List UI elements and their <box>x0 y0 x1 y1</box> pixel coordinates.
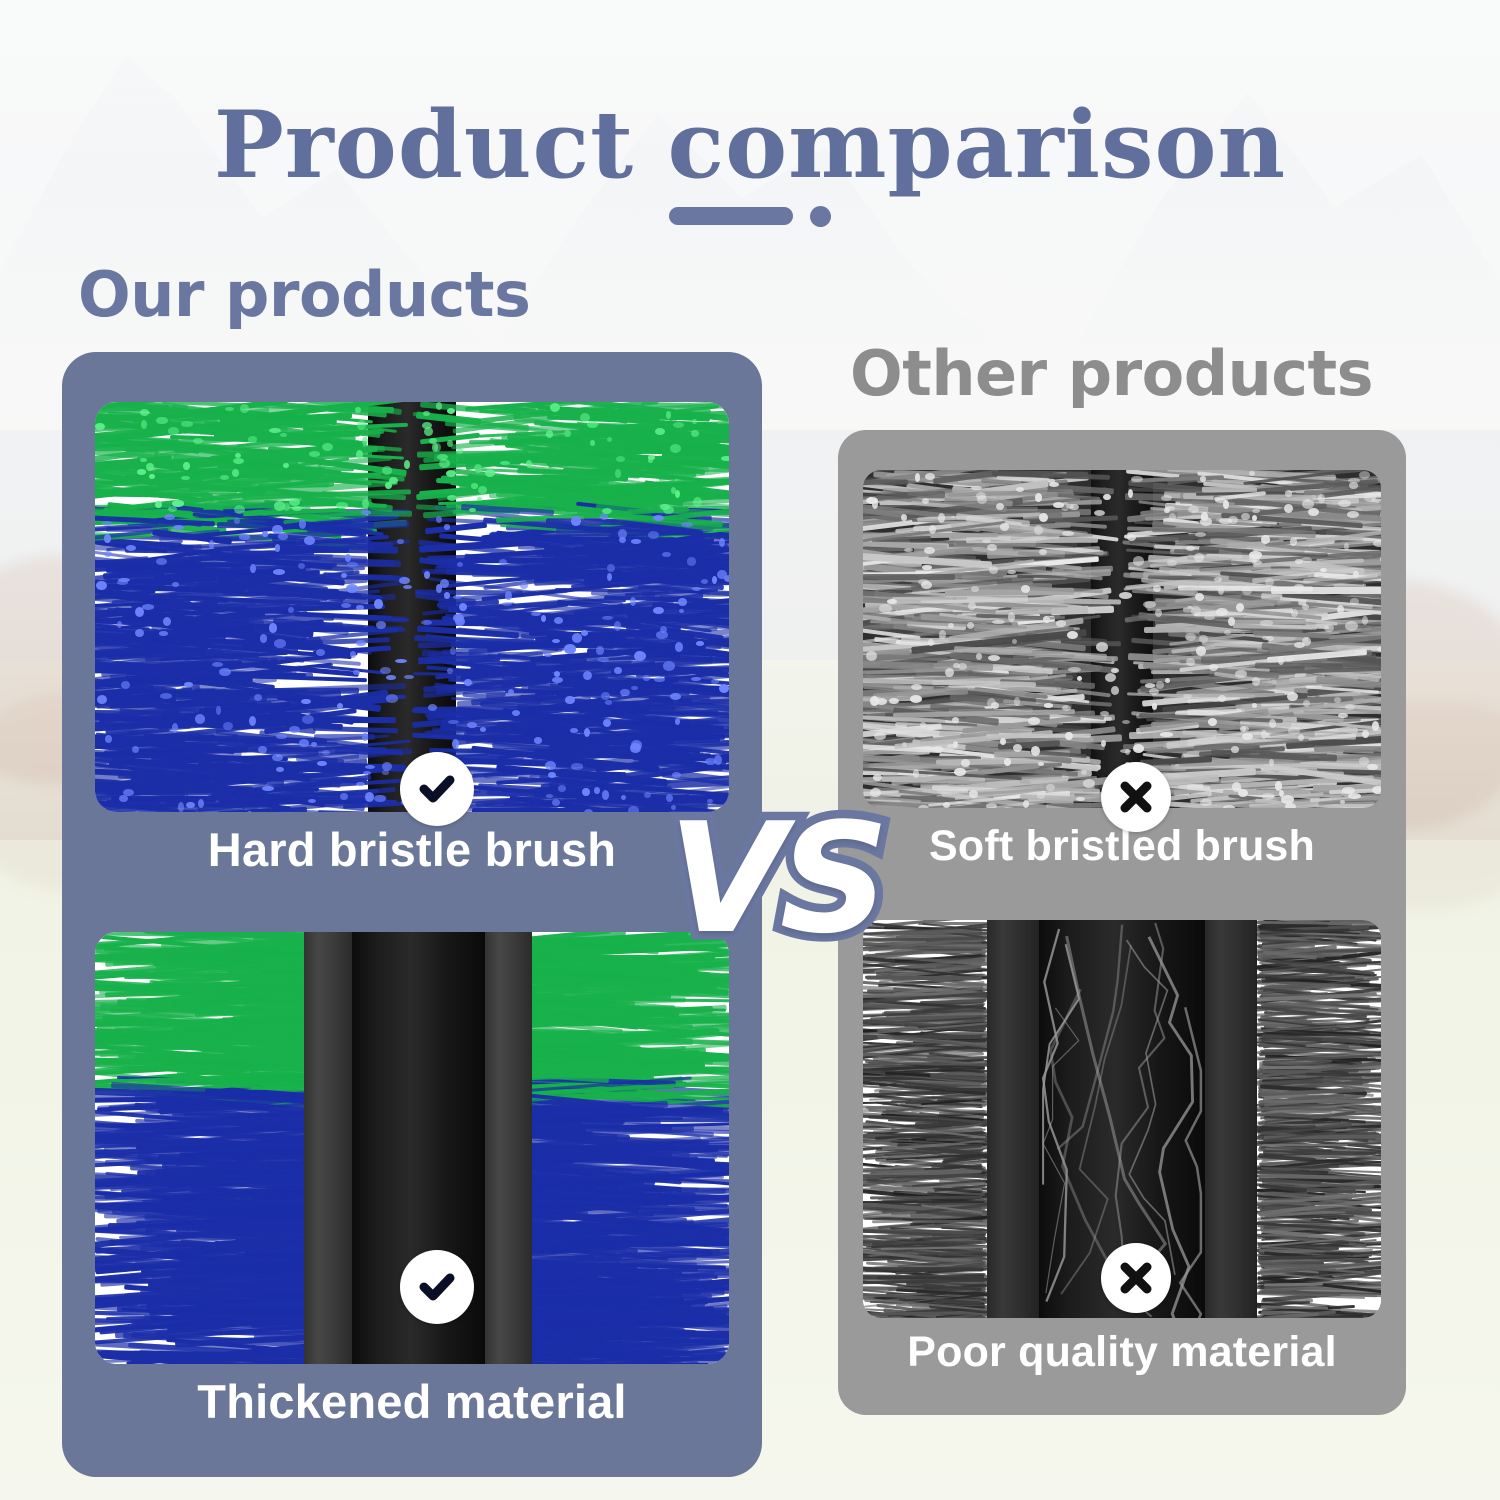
title-block: Product comparison <box>0 96 1500 227</box>
brush-backing-right <box>485 932 533 1364</box>
other-product-card-1[interactable] <box>863 470 1381 808</box>
brush-backing-left <box>304 932 352 1364</box>
title-divider <box>0 206 1500 227</box>
our-product-card-1[interactable] <box>95 402 729 812</box>
heading-other-products: Other products <box>850 337 1373 410</box>
versus-badge: VS <box>668 803 883 955</box>
x-icon <box>1101 1243 1171 1313</box>
hard-bristle-brush-image <box>95 402 729 812</box>
our-product-label-2: Thickened material <box>62 1374 762 1429</box>
check-icon <box>400 1250 474 1324</box>
our-product-label-1: Hard bristle brush <box>62 822 762 877</box>
divider-bar-icon <box>669 207 793 225</box>
soft-bristled-brush-image <box>863 470 1381 808</box>
other-product-label-2: Poor quality material <box>838 1328 1406 1377</box>
x-icon <box>1101 762 1171 832</box>
page-title: Product comparison <box>0 96 1500 194</box>
divider-dot-icon <box>810 206 831 227</box>
heading-our-products: Our products <box>78 258 530 331</box>
check-icon <box>400 752 474 826</box>
